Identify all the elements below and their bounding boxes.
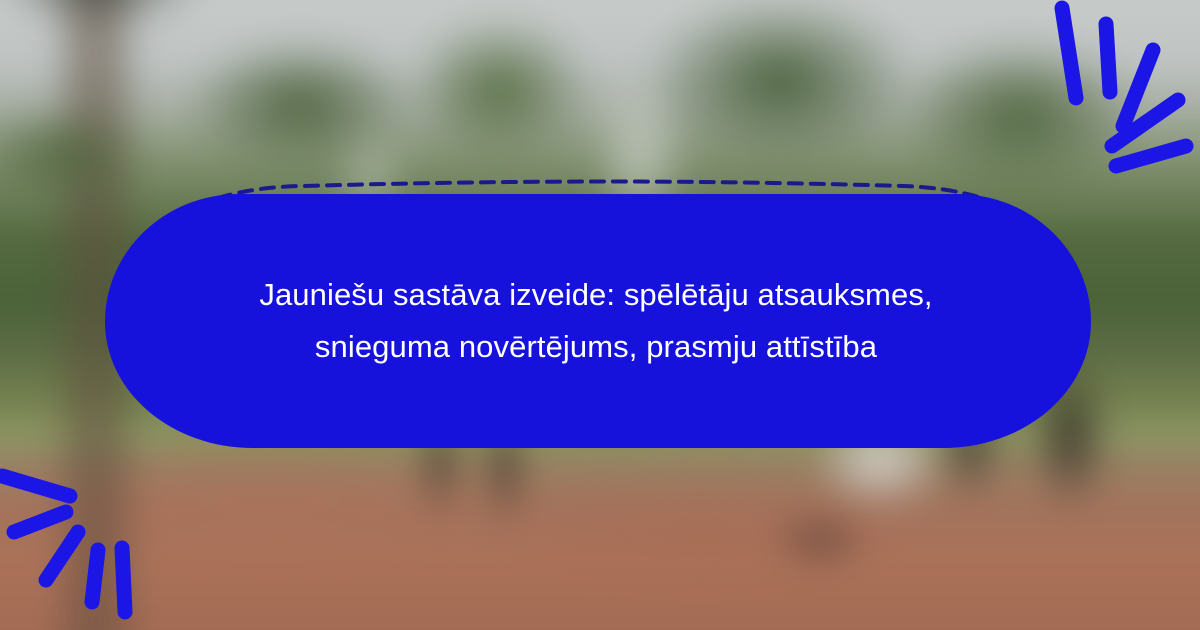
- burst-ray: [14, 512, 66, 532]
- og-image-canvas: Jauniešu sastāva izveide: spēlētāju atsa…: [0, 0, 1200, 630]
- card-title-block: Jauniešu sastāva izveide: spēlētāju atsa…: [103, 194, 1089, 448]
- title-card: Jauniešu sastāva izveide: spēlētāju atsa…: [103, 178, 1093, 450]
- title-line-1: Jauniešu sastāva izveide: spēlētāju atsa…: [259, 269, 932, 321]
- burst-ray: [1106, 24, 1110, 92]
- title-line-2: snieguma novērtējums, prasmju attīstība: [315, 321, 877, 373]
- sparkle-burst-top-right-icon: [1000, 0, 1200, 190]
- burst-ray: [1112, 100, 1178, 146]
- burst-ray: [1123, 50, 1153, 126]
- burst-ray: [1062, 8, 1076, 98]
- burst-ray: [2, 476, 70, 496]
- burst-ray: [1116, 146, 1186, 166]
- burst-ray: [122, 548, 125, 612]
- sparkle-burst-bottom-left-icon: [0, 460, 180, 630]
- burst-ray: [46, 532, 78, 580]
- burst-ray: [92, 550, 98, 602]
